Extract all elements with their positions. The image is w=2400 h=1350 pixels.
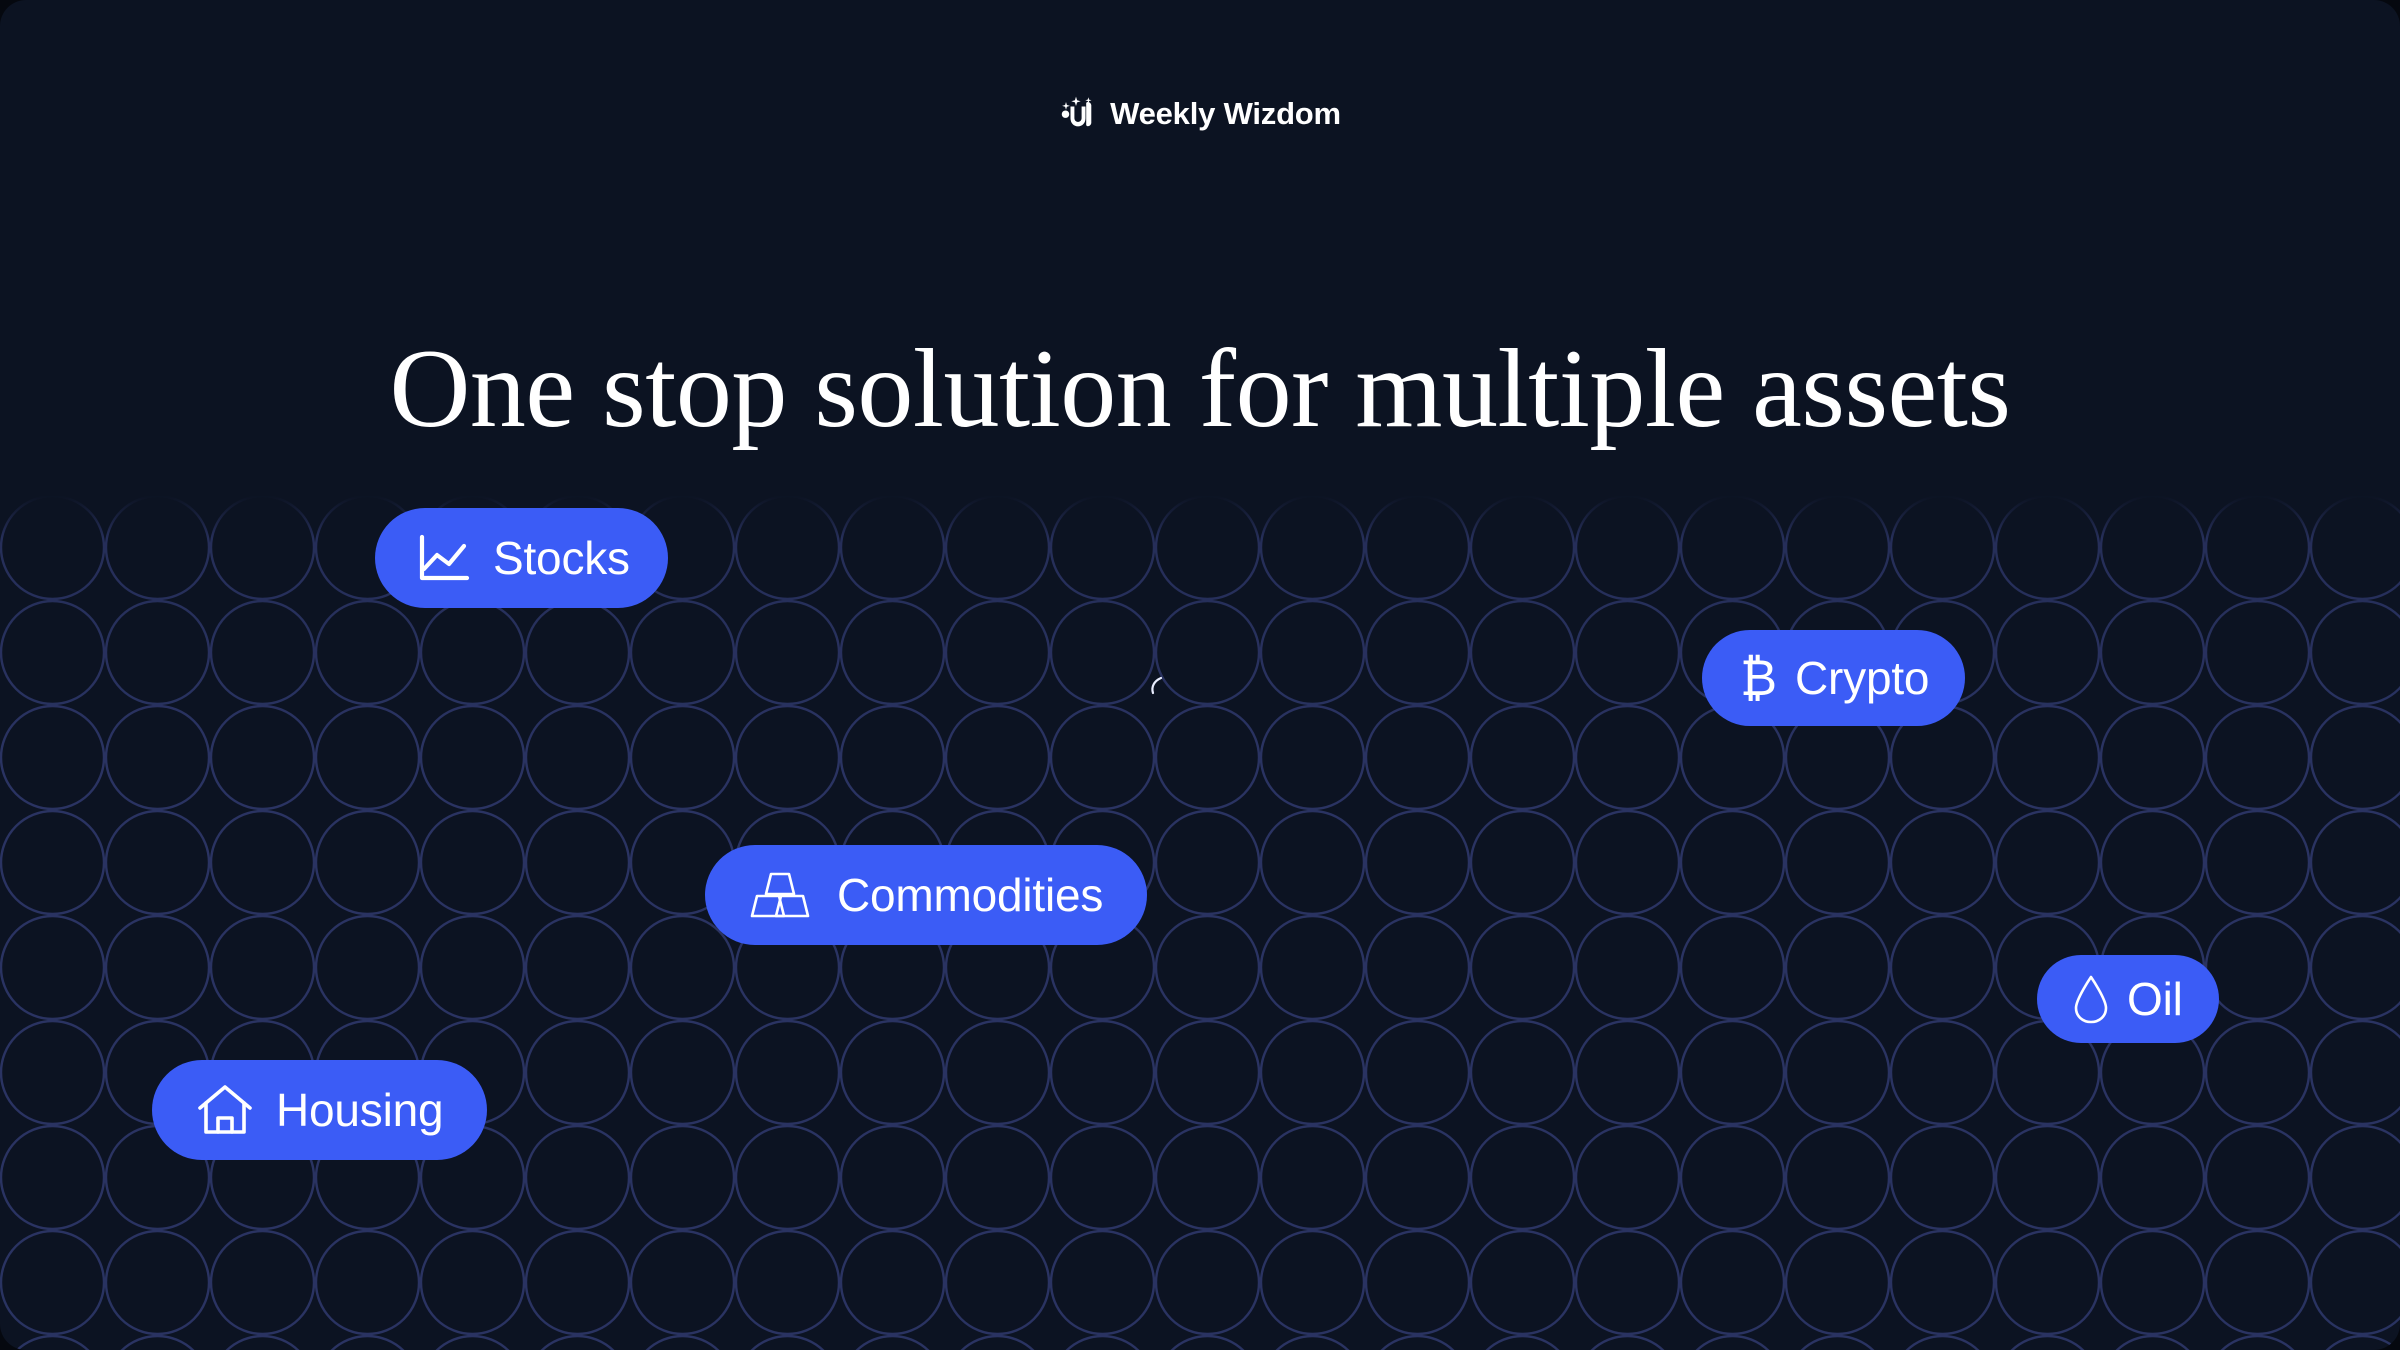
asset-pill-oil[interactable]: Oil bbox=[2037, 955, 2219, 1043]
asset-pill-commodities[interactable]: Commodities bbox=[705, 845, 1147, 945]
asset-pill-stocks[interactable]: Stocks bbox=[375, 508, 668, 608]
asset-pill-crypto[interactable]: ₿ Crypto bbox=[1702, 630, 1965, 726]
circle-grid-pattern bbox=[0, 495, 2400, 1350]
cursor-arc bbox=[1148, 676, 1168, 696]
wizdom-w-sparkle-icon bbox=[1059, 96, 1097, 130]
brand-logo[interactable]: Weekly Wizdom bbox=[0, 96, 2400, 130]
asset-pill-label: Oil bbox=[2127, 976, 2183, 1022]
bitcoin-glyph: ₿ bbox=[1740, 653, 1777, 703]
brand-name: Weekly Wizdom bbox=[1110, 98, 1341, 129]
asset-pill-housing[interactable]: Housing bbox=[152, 1060, 487, 1160]
asset-pill-label: Commodities bbox=[837, 872, 1103, 918]
gold-bars-icon bbox=[749, 869, 811, 921]
page-title: One stop solution for multiple assets bbox=[0, 327, 2400, 452]
asset-pill-label: Housing bbox=[276, 1087, 443, 1133]
line-chart-icon bbox=[417, 533, 471, 583]
hero-section: Weekly Wizdom One stop solution for mult… bbox=[0, 0, 2400, 1350]
oil-droplet-icon bbox=[2071, 973, 2111, 1025]
house-icon bbox=[196, 1083, 254, 1137]
asset-pill-label: Crypto bbox=[1795, 655, 1929, 701]
bitcoin-icon: ₿ bbox=[1740, 653, 1777, 703]
asset-pill-label: Stocks bbox=[493, 535, 630, 581]
